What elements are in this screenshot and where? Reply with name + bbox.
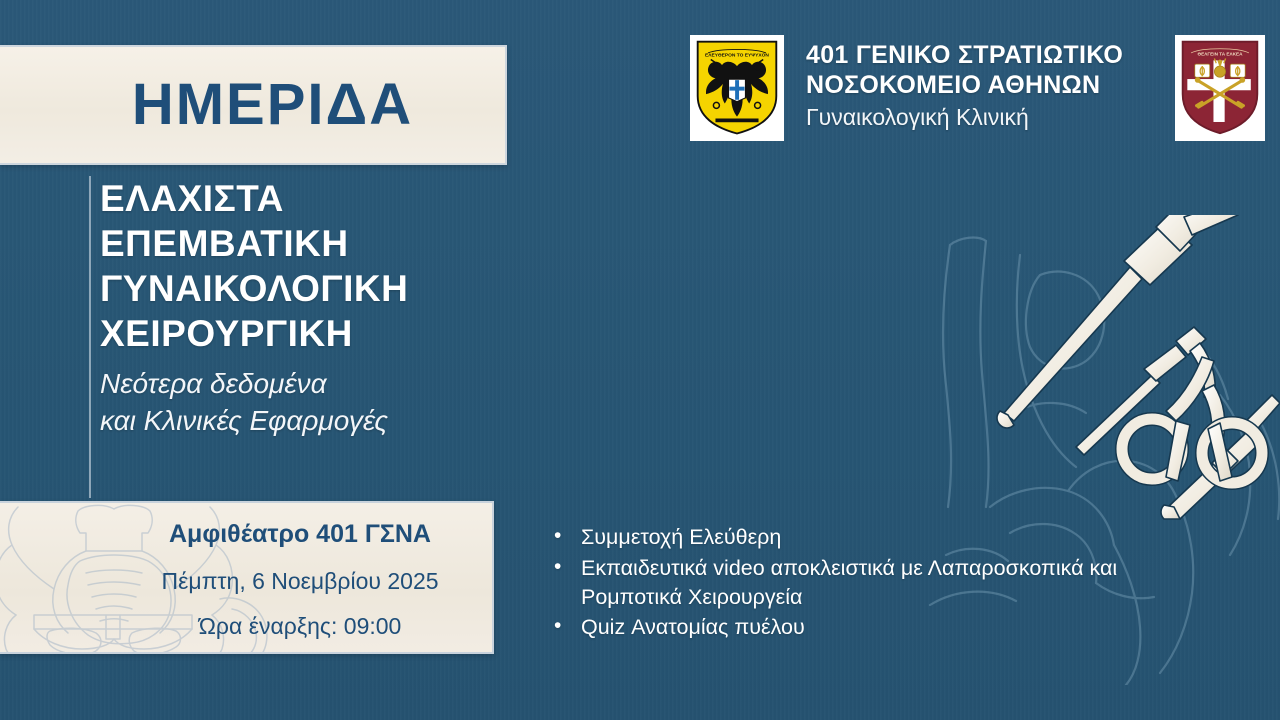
main-title-block: ΕΛΑΧΙΣΤΑ ΕΠΕΜΒΑΤΙΚΗ ΓΥΝΑΙΚΟΛΟΓΙΚΗ ΧΕΙΡΟΥ… xyxy=(100,176,570,440)
list-item: Εκπαιδευτικά video αποκλειστικά με Λαπαρ… xyxy=(548,554,1148,612)
title-divider-rule xyxy=(89,176,91,498)
clinic-name: Γυναικολογική Κλινική xyxy=(806,103,1175,133)
venue-place: Αμφιθέατρο 401 ΓΣΝΑ xyxy=(130,521,470,549)
hospital-header: ΕΛΕΥΘΕΡΟΝ ΤΟ ΕΥΨΥΧΟΝ 401 ΓΕΝΙΚΟ ΣΤΡΑΤΙΩΤ… xyxy=(690,35,1265,145)
hospital-line-1: 401 ΓΕΝΙΚΟ ΣΤΡΑΤΙΩΤΙΚΟ xyxy=(806,41,1175,71)
army-medical-corps-emblem-icon: ΘΕΛΓΕΙΝ ΤΑ ΕΛΚΕΑ xyxy=(1175,35,1265,141)
hellenic-army-emblem-icon: ΕΛΕΥΘΕΡΟΝ ΤΟ ΕΥΨΥΧΟΝ xyxy=(690,35,784,141)
banner-title: ΗΜΕΡΙΔΑ xyxy=(92,76,413,134)
title-line-4: ΧΕΙΡΟΥΡΓΙΚΗ xyxy=(100,311,570,356)
svg-text:ΘΕΛΓΕΙΝ ΤΑ ΕΛΚΕΑ: ΘΕΛΓΕΙΝ ΤΑ ΕΛΚΕΑ xyxy=(1198,52,1244,57)
info-bullet-list: Συμμετοχή Ελεύθερη Εκπαιδευτικά video απ… xyxy=(548,523,1148,644)
svg-text:ΕΛΕΥΘΕΡΟΝ ΤΟ ΕΥΨΥΧΟΝ: ΕΛΕΥΘΕΡΟΝ ΤΟ ΕΥΨΥΧΟΝ xyxy=(705,53,769,59)
list-item: Quiz Ανατομίας πυέλου xyxy=(548,613,1148,642)
title-line-1: ΕΛΑΧΙΣΤΑ xyxy=(100,176,570,221)
venue-info-box: Αμφιθέατρο 401 ΓΣΝΑ Πέμπτη, 6 Νοεμβρίου … xyxy=(0,501,494,654)
hospital-name-block: 401 ΓΕΝΙΚΟ ΣΤΡΑΤΙΩΤΙΚΟ ΝΟΣΟΚΟΜΕΙΟ ΑΘΗΝΩΝ… xyxy=(806,35,1175,133)
subtitle-line-1: Νεότερα δεδομένα xyxy=(100,365,570,403)
venue-details: Αμφιθέατρο 401 ΓΣΝΑ Πέμπτη, 6 Νοεμβρίου … xyxy=(130,521,470,639)
title-line-2: ΕΠΕΜΒΑΤΙΚΗ xyxy=(100,221,570,266)
venue-time: Ώρα έναρξης: 09:00 xyxy=(130,614,470,639)
venue-date: Πέμπτη, 6 Νοεμβρίου 2025 xyxy=(130,569,470,594)
hospital-line-2: ΝΟΣΟΚΟΜΕΙΟ ΑΘΗΝΩΝ xyxy=(806,71,1175,101)
list-item: Συμμετοχή Ελεύθερη xyxy=(548,523,1148,552)
subtitle-line-2: και Κλινικές Εφαρμογές xyxy=(100,402,570,440)
conference-poster: ΗΜΕΡΙΔΑ ΕΛΑΧΙΣΤΑ ΕΠΕΜΒΑΤΙΚΗ ΓΥΝΑΙΚΟΛΟΓΙΚ… xyxy=(0,0,1280,720)
event-type-banner: ΗΜΕΡΙΔΑ xyxy=(0,45,507,165)
title-line-3: ΓΥΝΑΙΚΟΛΟΓΙΚΗ xyxy=(100,266,570,311)
